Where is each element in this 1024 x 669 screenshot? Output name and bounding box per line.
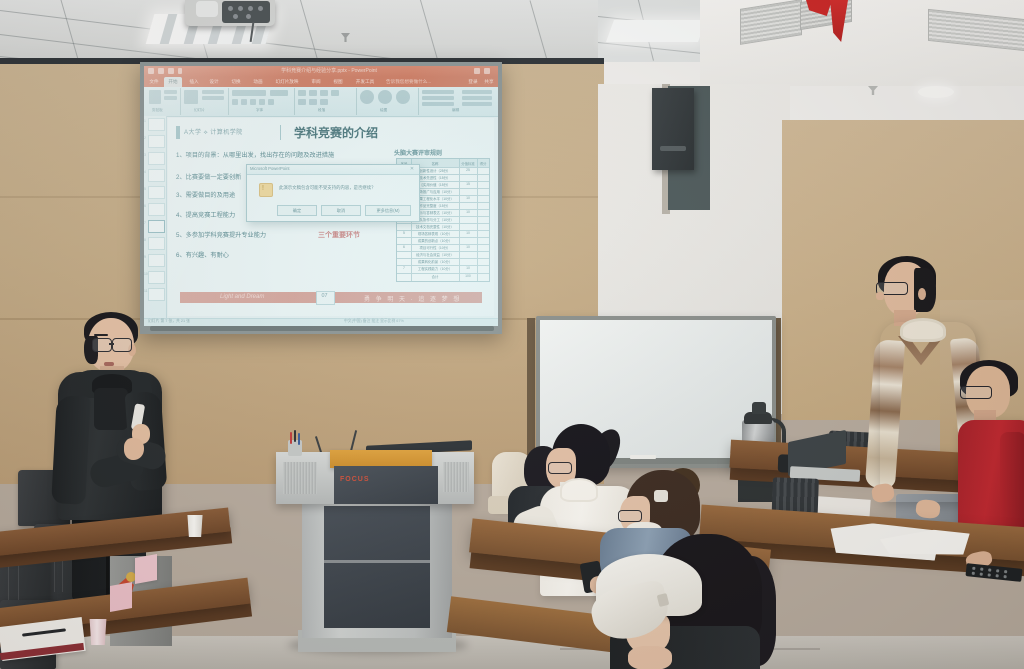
downlight-icon (918, 86, 954, 98)
slide-footer-left-text: Light and Dream (220, 294, 264, 300)
table-cell: 6 (397, 245, 411, 249)
glasses-icon (112, 338, 132, 352)
tab-insert[interactable]: 插入 (186, 77, 202, 87)
table-cell: 100 (459, 274, 477, 278)
tab-view[interactable]: 视图 (330, 77, 346, 87)
chevron-down-icon[interactable] (178, 68, 182, 74)
table-cell: 5 (397, 231, 411, 235)
save-icon[interactable] (148, 68, 154, 74)
table-cell: 成果转化前景（10分） (411, 259, 459, 264)
presenter-arm-left (51, 395, 91, 505)
name-card (110, 582, 132, 612)
share-button[interactable]: 共享 (482, 77, 496, 87)
classroom-scene: 学科竞赛介绍与经验分享.pptx - PowerPoint 文件 开始 插入 设… (0, 0, 1024, 669)
slide-thumbnail-active[interactable] (148, 220, 165, 233)
slide-divider (280, 125, 281, 140)
glasses-icon (92, 338, 112, 352)
ribbon-group-label: 段落 (318, 108, 325, 113)
thumb-number: 8 (144, 238, 146, 242)
tab-design[interactable]: 设计 (206, 77, 222, 87)
table-cell: 10 (459, 266, 477, 270)
status-slide-count: 幻灯片 第 7 张，共 21 张 (148, 319, 190, 324)
tab-developer[interactable]: 开发工具 (352, 77, 378, 87)
slide-bullet: 6、有兴趣、有耐心 (176, 250, 229, 259)
glasses-icon (960, 386, 992, 399)
dialog-more-info-button[interactable]: 更多信息(M) (365, 205, 411, 216)
student-hands (628, 646, 672, 669)
thumb-number: 1 (144, 119, 146, 123)
close-icon[interactable] (484, 68, 490, 74)
slide-footer-right-text: 勇 争 明 天 · 追 逐 梦 想 (364, 294, 461, 303)
table-cell: 技术文档完整性（10分） (411, 224, 459, 229)
table-cell: 成果的创新点（10分） (411, 238, 459, 243)
standing-person-ear (918, 288, 926, 300)
slide-bullet: 1、项目的背景：从哪里出发，找出存在的问题及改进措施 (176, 150, 334, 159)
ribbon-group-label: 绘图 (380, 108, 387, 113)
ribbon-group-editing: 编辑 (418, 88, 498, 115)
slide-thumbnail[interactable] (148, 271, 165, 284)
tab-transitions[interactable]: 切换 (228, 77, 244, 87)
ribbon-group-font: 字体 (228, 88, 295, 115)
seated-person-arm (1000, 432, 1024, 540)
hair-clip (654, 490, 668, 502)
slide-title: 学科竞赛的介绍 (294, 124, 378, 141)
slide-thumbnail[interactable] (148, 203, 165, 216)
undo-icon[interactable] (158, 68, 164, 74)
slide-highlight-text: 三个重要环节 (318, 230, 360, 240)
dialog-ok-button[interactable]: 确定 (277, 205, 317, 216)
slide-thumbnail[interactable] (148, 186, 165, 199)
thermos-lid[interactable] (752, 402, 766, 414)
thumb-number: 9 (144, 255, 146, 259)
table-cell: 现场答辩表现（10分） (411, 231, 459, 236)
slide-thumbnail[interactable] (148, 237, 165, 250)
podium-brand-logo: FOCUS (340, 476, 370, 483)
screen-weight-bar (150, 326, 494, 331)
ribbon-group-clipboard: 剪贴板 (144, 88, 181, 115)
paper-cup[interactable] (186, 515, 204, 537)
thumb-number: 5 (144, 187, 146, 191)
slide-canvas[interactable]: A大学 ⟡ 计算机学院 学科竞赛的介绍 头脑大赛评审规则 1、项目的背景：从哪里… (168, 118, 494, 316)
ribbon-group-label: 编辑 (452, 108, 459, 113)
name-card (135, 554, 157, 584)
podium-front-panel (334, 466, 438, 504)
tab-animations[interactable]: 动画 (250, 77, 266, 87)
table-cell: 10 (459, 231, 477, 235)
ppt-window-title: 学科竞赛介绍与经验分享.pptx - PowerPoint (244, 67, 414, 74)
ceiling-light-panel-2 (606, 20, 706, 42)
table-cell: 10 (459, 245, 477, 249)
projector-mount (222, 1, 270, 23)
presenter-chest (94, 388, 128, 430)
glasses-bridge (109, 343, 114, 345)
tab-review[interactable]: 审阅 (308, 77, 324, 87)
ribbon-search-input[interactable]: 告诉我您想要做什么... (386, 77, 464, 87)
slide-bullet: 5、多参加学科竞赛提升专业能力 (176, 230, 266, 239)
standing-person-hand-right (915, 499, 941, 519)
projector-lens-icon (196, 1, 218, 17)
podium-vent (443, 462, 469, 492)
slide-bullet: 4、提高竞赛工程能力 (176, 210, 235, 219)
ribbon-group-paragraph: 段落 (294, 88, 357, 115)
table-header: 得分 (477, 161, 489, 166)
slide-thumbnail[interactable] (148, 118, 165, 131)
table-cell: 经济与社会效益（10分） (411, 252, 459, 257)
thumb-number: 3 (144, 153, 146, 157)
powerpoint-dialog[interactable]: Microsoft PowerPoint ✕ ! 此演示文稿包含可能不受支持的内… (246, 164, 420, 222)
table-cell: 项目可行性（10分） (411, 245, 459, 250)
thumb-number: 6 (144, 204, 146, 208)
table-cell: 10 (459, 196, 477, 200)
slide-thumbnail[interactable] (148, 288, 165, 301)
tab-slideshow[interactable]: 幻灯片放映 (272, 77, 302, 87)
thumb-number: 11 (144, 289, 148, 293)
presenter-brow (94, 334, 108, 336)
table-cell: 工程实践能力（10分） (411, 266, 459, 271)
close-icon[interactable]: ✕ (408, 166, 416, 173)
table-header: 分值标准 (459, 161, 477, 166)
status-right-info: 中文(中国) 备注 批注 显示比例 67% (344, 319, 404, 324)
slide-page-number: 07 (316, 293, 333, 299)
presenter-hand-left (124, 438, 144, 460)
paper-cup[interactable] (88, 619, 108, 645)
slide-thumbnail[interactable] (148, 152, 165, 165)
table-cell: 10 (459, 210, 477, 214)
whiteboard-eraser[interactable] (630, 455, 656, 459)
podium-vent (283, 462, 317, 494)
glasses-icon (548, 462, 572, 474)
dialog-message: 此演示文稿包含可能不受支持的内容，是否继续？ (279, 185, 407, 191)
slide-bullet: 2、比赛要做一定要创新 (176, 172, 241, 181)
slide-thumbnail[interactable] (148, 169, 165, 182)
slide-thumbnail-panel[interactable]: 1 2 3 4 5 6 7 8 9 10 11 (144, 116, 167, 326)
table-cell: 7 (397, 266, 411, 270)
ribbon-group-label: 幻灯片 (194, 108, 205, 113)
wall-speaker (652, 88, 694, 170)
slide-bullet: 3、需要做目的及用途 (176, 190, 235, 199)
thumb-number: 2 (144, 136, 146, 140)
pen-holder[interactable] (288, 440, 302, 456)
projection-screen[interactable]: 学科竞赛介绍与经验分享.pptx - PowerPoint 文件 开始 插入 设… (144, 66, 498, 326)
ribbon-group-label: 字体 (256, 108, 263, 113)
thumb-number: 4 (144, 170, 146, 174)
ribbon-group-drawing: 绘图 (356, 88, 419, 115)
speaker-grill-icon (660, 146, 686, 151)
slide-thumbnail[interactable] (148, 135, 165, 148)
dialog-cancel-button[interactable]: 取消 (321, 205, 361, 216)
ppt-statusbar (144, 318, 498, 326)
slide-table-title: 头脑大赛评审规则 (394, 148, 442, 157)
table-cell: 15 (459, 182, 477, 186)
podium-seam (324, 560, 430, 563)
tab-home[interactable]: 开始 (164, 77, 182, 87)
podium-panel (324, 506, 430, 628)
signin-link[interactable]: 登录 (466, 77, 480, 87)
thumb-number: 7 (144, 221, 146, 225)
university-logo: A大学 ⟡ 计算机学院 (184, 127, 243, 137)
warning-icon-glyph: ! (262, 185, 264, 193)
minimize-icon[interactable] (474, 68, 480, 74)
table-cell: 合计 (411, 274, 459, 279)
table-cell: 25 (459, 168, 477, 172)
table-row-total: 合计 100 (397, 273, 489, 281)
tab-file[interactable]: 文件 (146, 77, 162, 87)
standing-person-nose (876, 292, 884, 300)
student-collar (560, 478, 598, 502)
dialog-title: Microsoft PowerPoint (250, 166, 290, 171)
ribbon-group-label: 剪贴板 (152, 108, 163, 113)
glasses-icon (618, 510, 642, 522)
slide-thumbnail[interactable] (148, 254, 165, 267)
slide-logo-bar (176, 126, 180, 139)
ribbon-group-slides: 幻灯片 (180, 88, 229, 115)
redo-icon[interactable] (168, 68, 174, 74)
sweater-collar (900, 318, 946, 342)
